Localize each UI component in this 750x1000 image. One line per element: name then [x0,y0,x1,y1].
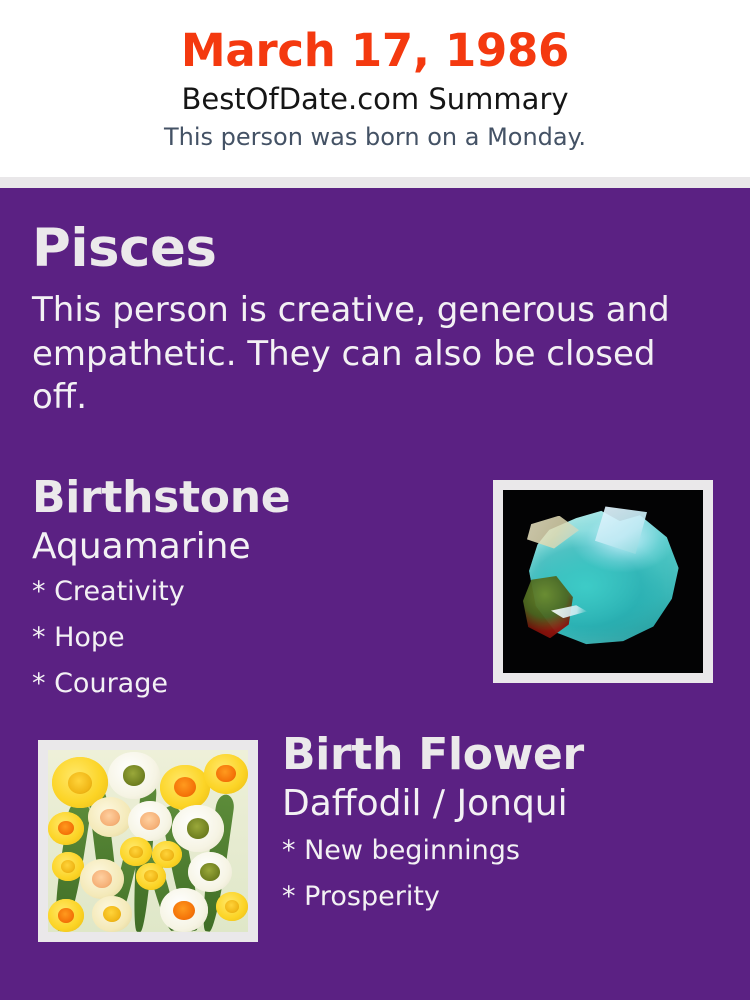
daffodil-bloom [204,754,248,794]
birthstone-section: Birthstone Aquamarine * Creativity * Hop… [32,476,472,716]
birthstone-name: Aquamarine [32,520,472,566]
daffodil-bloom [172,805,224,852]
aquamarine-crystal-photo [503,490,703,673]
birthstone-trait-list: * Creativity * Hope * Courage [32,566,472,716]
daffodil-bloom [80,859,124,899]
daffodil-cup [61,860,75,873]
header-divider [0,177,750,188]
daffodil-cup [58,821,74,835]
daffodil-cup [140,812,159,830]
birth-flower-name: Daffodil / Jonqui [282,777,742,823]
page-title-date: March 17, 1986 [0,0,750,74]
daffodil-bloom [160,765,210,811]
list-item: * Creativity [32,578,472,624]
daffodil-cup [123,765,146,786]
list-item: * New beginnings [282,837,742,883]
birth-flower-trait-list: * New beginnings * Prosperity [282,823,742,929]
daffodil-cup [173,901,194,920]
daffodil-cup [187,818,210,839]
list-item: * Prosperity [282,883,742,929]
daffodil-cup [58,908,74,922]
daffodil-cup [68,772,93,794]
daffodil-bloom [92,896,132,932]
zodiac-description: This person is creative, generous and em… [32,275,700,420]
birth-flower-section: Birth Flower Daffodil / Jonqui * New beg… [282,733,742,929]
zodiac-section: Pisces This person is creative, generous… [32,222,722,420]
birthstone-image-frame [493,480,713,683]
daffodil-cup [174,777,196,797]
list-item: * Courage [32,670,472,716]
daffodil-flowers-photo [48,750,248,932]
list-item: * Hope [32,624,472,670]
daffodil-cup [200,863,219,881]
daffodil-cup [144,870,157,882]
daffodil-cup [100,809,119,827]
birth-flower-title: Birth Flower [282,733,742,777]
daffodil-cup [216,765,235,783]
daffodil-bloom [108,752,160,799]
daffodil-bloom [48,899,84,932]
daffodil-bloom [128,801,172,841]
site-summary-label: BestOfDate.com Summary [0,74,750,116]
weekday-statement: This person was born on a Monday. [0,116,750,150]
daffodil-bloom [48,812,84,845]
daffodil-bloom [216,892,248,921]
card-header: March 17, 1986 BestOfDate.com Summary Th… [0,0,750,177]
daffodil-bloom [160,888,208,932]
zodiac-sign-title: Pisces [32,222,722,275]
birthdate-summary-card: March 17, 1986 BestOfDate.com Summary Th… [0,0,750,1000]
daffodil-cup [160,849,173,861]
daffodil-bloom [136,863,166,890]
birth-flower-image-frame [38,740,258,942]
daffodil-cup [129,846,143,859]
daffodil-cup [225,900,239,913]
birthstone-title: Birthstone [32,476,472,520]
content-panel: Pisces This person is creative, generous… [0,188,750,1000]
daffodil-cup [92,870,111,888]
daffodil-bloom [188,852,232,892]
daffodil-cup [103,906,121,922]
